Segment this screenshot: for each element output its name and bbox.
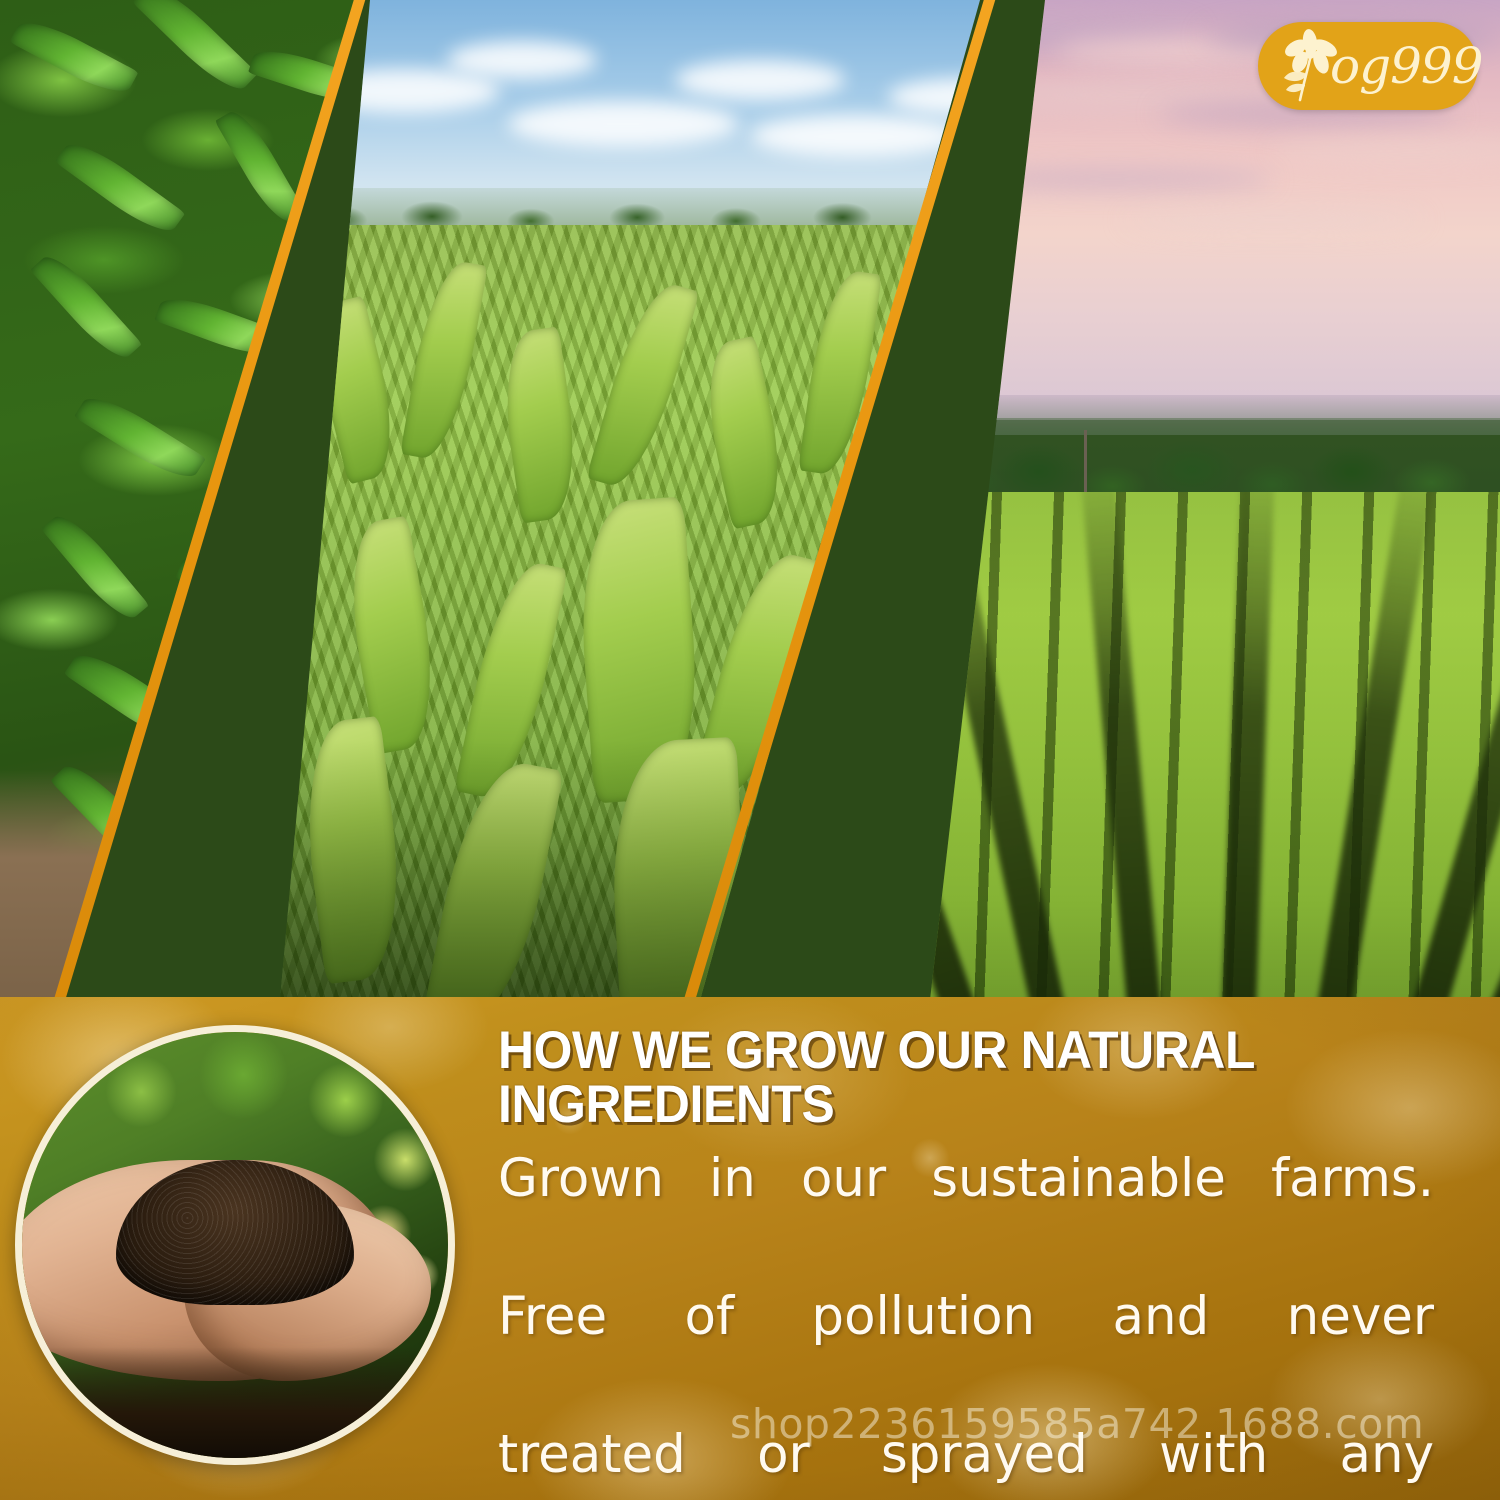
marketing-poster: HOW WE GROW OUR NATURAL INGREDIENTS Grow… [0,0,1500,1500]
photo-panel-sunset-farm [930,0,1500,1000]
field-shadow [280,740,1040,1000]
banner-body-line-1: Grown in our sustainable farms. [498,1145,1434,1283]
banner-body-line-2: Free of pollution and never [498,1283,1434,1421]
soil-floor [22,1347,448,1458]
banner-body: Grown in our sustainable farms. Free of … [498,1145,1434,1500]
banner-text-block: HOW WE GROW OUR NATURAL INGREDIENTS Grow… [498,1024,1463,1500]
hands-holding-soil-photo [15,1025,455,1465]
banner-body-line-3: treated or sprayed with any [498,1421,1434,1500]
brand-logo[interactable]: og999 [1258,22,1478,110]
furrow-lines [930,492,1500,1000]
photo-panel-turmeric-field [280,0,1040,1000]
banner-heading: HOW WE GROW OUR NATURAL INGREDIENTS [498,1024,1405,1132]
logo-wordmark: og999 [1330,30,1476,102]
photo-strip [0,0,1500,1000]
